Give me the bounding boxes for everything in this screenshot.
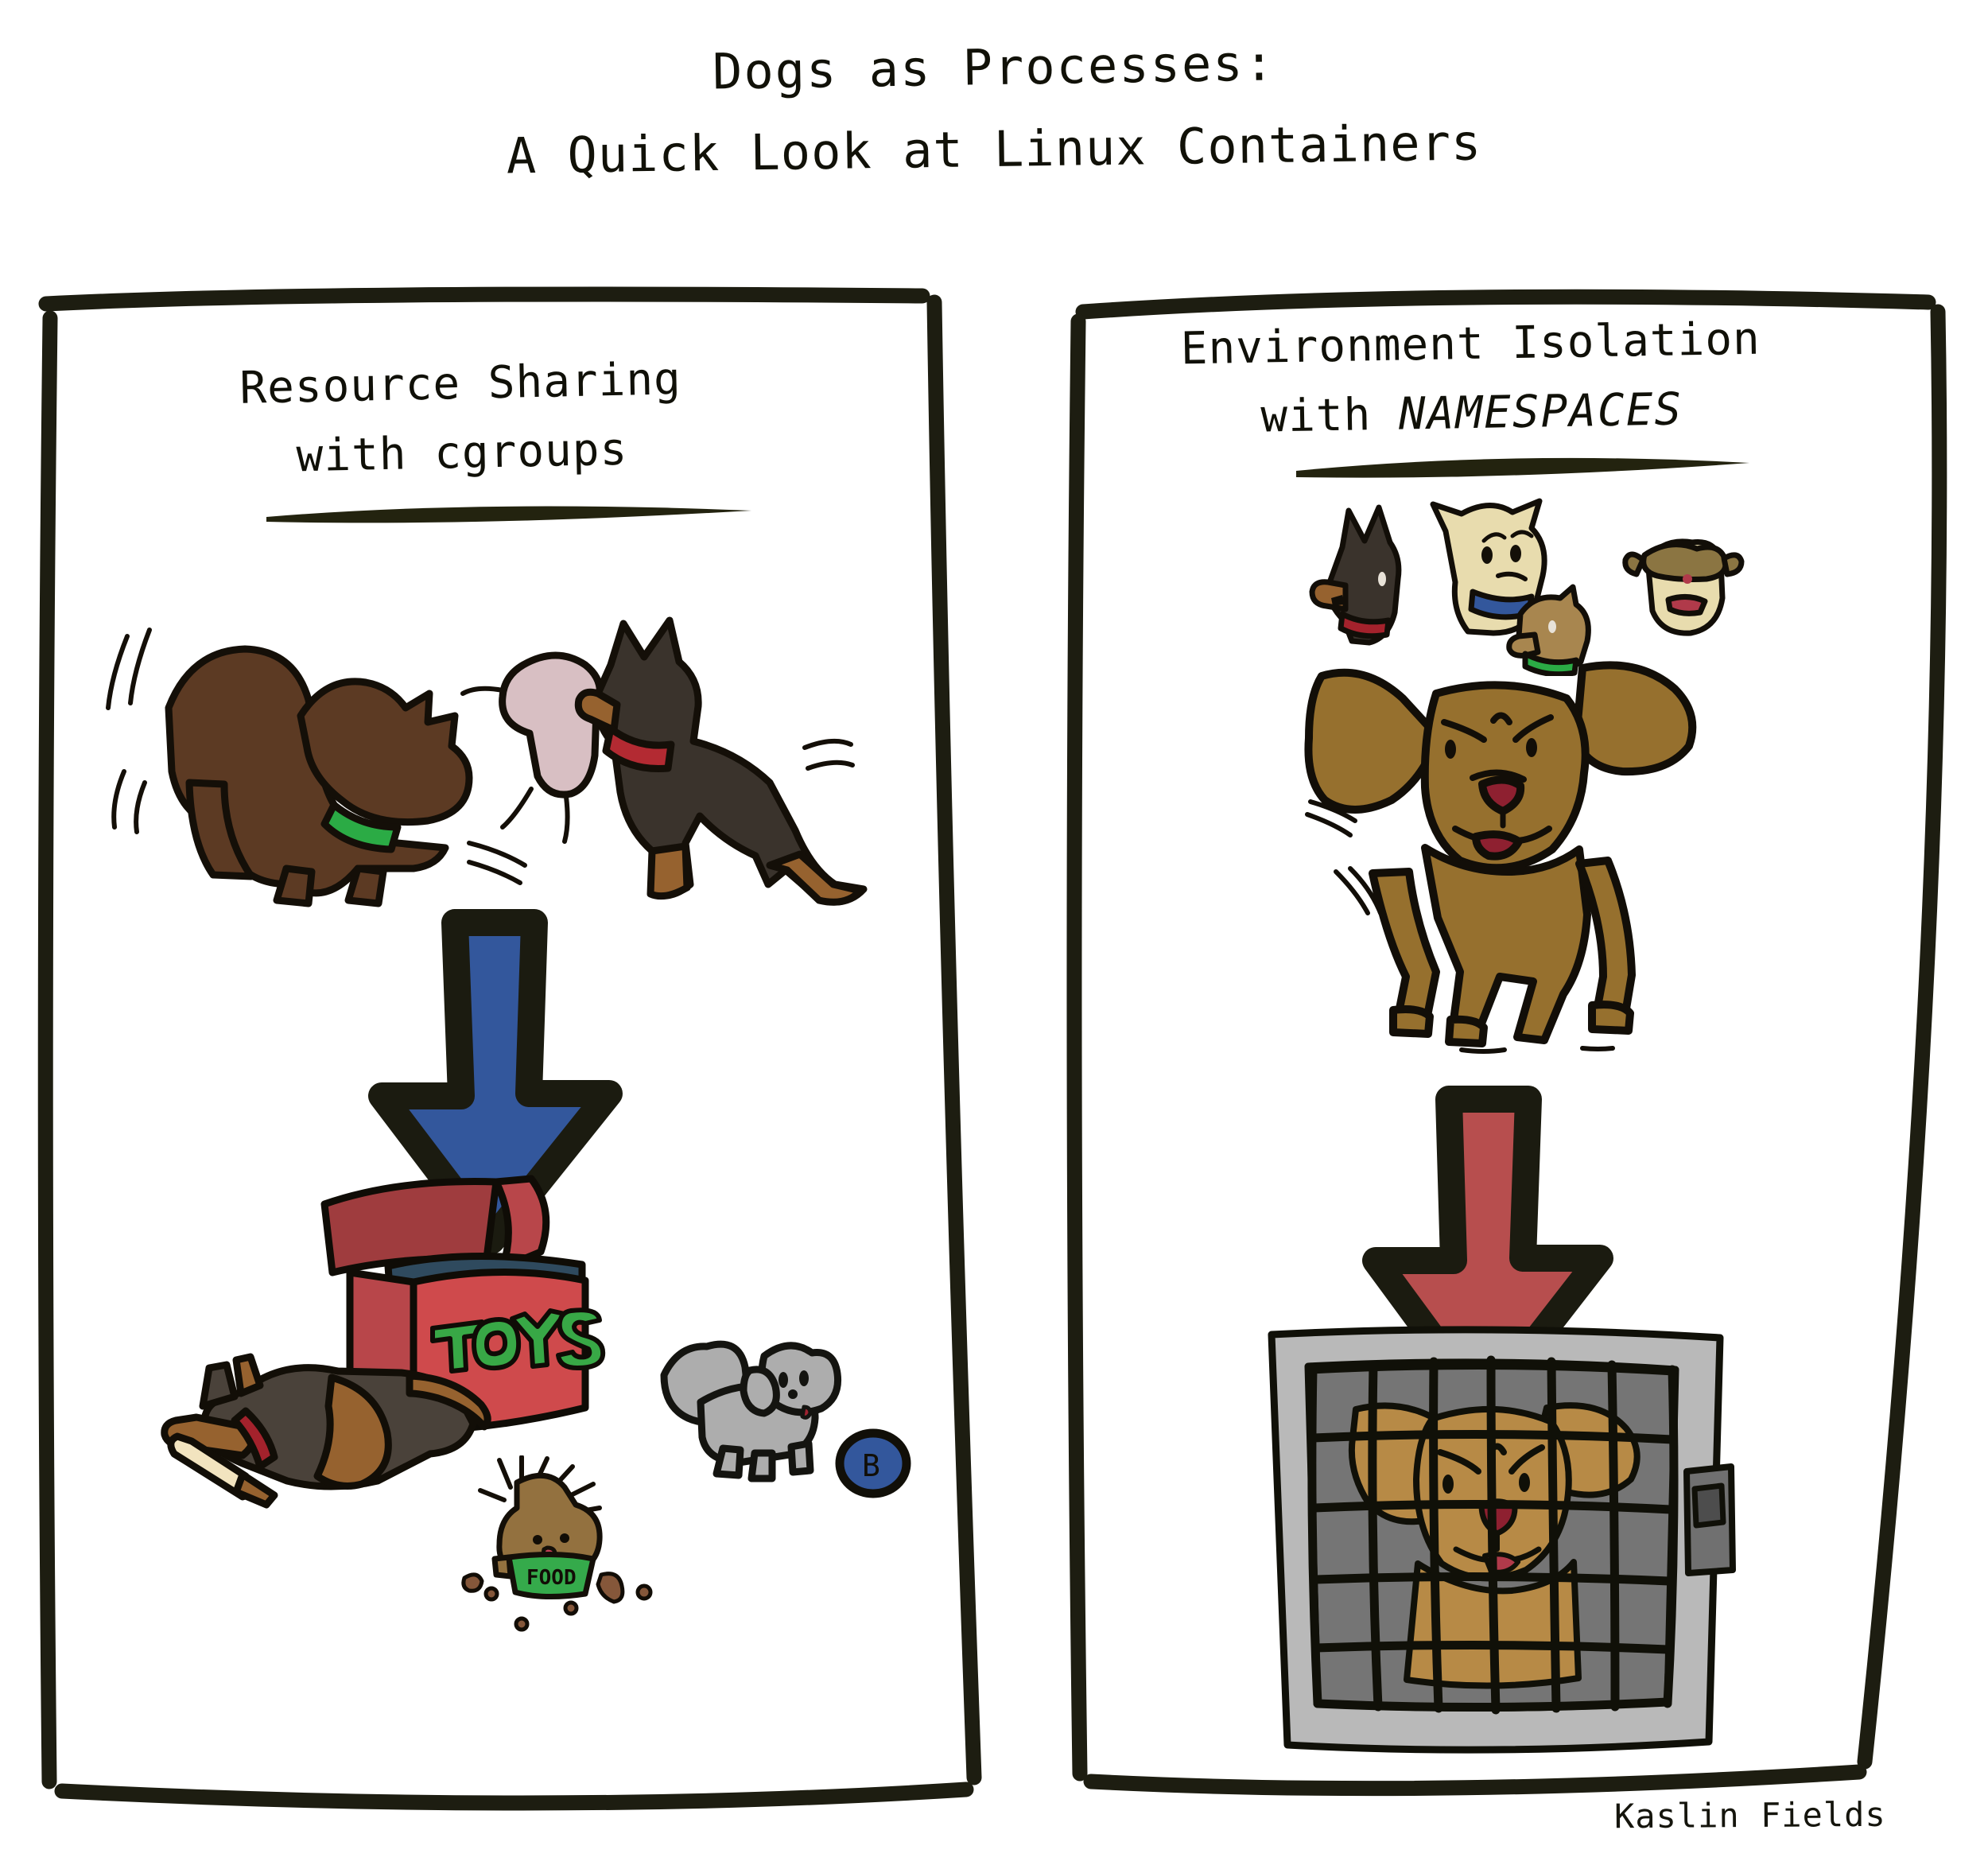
poodle-leg-2	[751, 1453, 772, 1478]
chocolate-lab-dog	[169, 649, 445, 893]
toy-box-lid-right	[496, 1179, 546, 1268]
pug-head	[1625, 542, 1741, 633]
doberman-muzzle	[578, 692, 617, 730]
dog-paw-fl	[1393, 1009, 1430, 1034]
dog-leg-fl	[1373, 872, 1436, 1028]
panel-right-right	[1865, 312, 1939, 1762]
doberman-collar	[606, 729, 671, 769]
toy-box-interior	[388, 1256, 582, 1288]
shaggy-dog-at-bowl: FOOD	[453, 1455, 676, 1646]
chocolate-lab-head	[301, 682, 469, 822]
dog-with-bone-body	[204, 1368, 473, 1486]
toy-box-lid-left	[324, 1182, 496, 1273]
dog-with-bone-haunch	[317, 1377, 388, 1486]
poodle-body	[701, 1385, 815, 1463]
panel-right-heading-line2: with NAMESPACES	[1105, 381, 1838, 445]
panel-right-left	[1074, 321, 1080, 1774]
panel-left-heading-line2: with cgroups	[111, 420, 812, 486]
panel-left-top	[46, 294, 922, 304]
poodle-leg-3	[791, 1444, 810, 1472]
blue-down-arrow-group	[382, 923, 609, 1241]
blue-ball: B	[827, 1422, 930, 1517]
red-down-arrow-group	[1376, 1099, 1600, 1408]
dog-with-bone-collar	[235, 1411, 274, 1467]
toy-box-label-O	[474, 1319, 518, 1368]
panel-right-heading-emphasis: NAMESPACES	[1398, 383, 1683, 440]
comic-stage: Dogs as Processes: A Quick Look at Linux…	[0, 0, 1988, 1869]
dog-tongue	[1476, 834, 1519, 857]
red-down-arrow-shape	[1376, 1099, 1600, 1408]
dog-with-bone-muzzle	[165, 1417, 254, 1455]
crate-bars	[1311, 1360, 1674, 1710]
dog-head	[1425, 685, 1586, 868]
dog-body	[1425, 848, 1587, 1040]
dog-with-bone-paw	[236, 1475, 274, 1505]
poodle-tail	[664, 1344, 746, 1422]
panel-right-heading-prefix: with	[1260, 389, 1400, 443]
panel-left-heading-line1: Resource Sharing	[111, 351, 811, 417]
kibble-6	[516, 1618, 527, 1630]
crated-dog-tongue	[1485, 1554, 1518, 1572]
heading-underline-left	[266, 507, 751, 523]
crated-dog-body	[1407, 1562, 1578, 1686]
dog-leg-br	[1579, 861, 1632, 1023]
kibble-4	[638, 1586, 650, 1599]
gray-poodle	[656, 1324, 863, 1515]
kibble-2	[598, 1574, 623, 1602]
shaggy-dog-tongue	[544, 1548, 556, 1559]
kibble-5	[565, 1603, 577, 1614]
toy-box-left-face	[350, 1273, 414, 1432]
poodle-leg-1	[716, 1448, 740, 1475]
blue-ball-shape	[840, 1433, 907, 1494]
dog-with-bone-tail	[410, 1376, 487, 1427]
crated-dog	[1352, 1405, 1637, 1685]
poodle-nose	[788, 1389, 798, 1399]
blue-down-arrow-shape	[382, 923, 609, 1241]
poodle-head	[762, 1346, 838, 1412]
dog-with-bone-ear-r	[236, 1357, 260, 1393]
artist-signature: Kaslin Fields	[1614, 1795, 1886, 1836]
crate-interior	[1308, 1362, 1675, 1708]
dog-paw-br	[1592, 1004, 1630, 1031]
panel-left-right	[934, 302, 974, 1778]
cream-dog-head	[1433, 501, 1544, 633]
poodle-eye-l	[779, 1372, 788, 1388]
dog-ear-left	[1308, 673, 1438, 810]
blue-ball-label: B	[862, 1448, 880, 1483]
toy-box-front-face	[414, 1272, 585, 1432]
poodle-ear	[744, 1370, 776, 1413]
shaggy-dog-eye-l	[533, 1535, 542, 1545]
toy-box	[302, 1169, 652, 1471]
dog-eye-right	[1526, 738, 1537, 757]
panel-heading-left: Resource Sharing with cgroups	[111, 351, 813, 486]
poodle-tongue	[802, 1407, 810, 1417]
dog-muzzle	[1473, 772, 1524, 779]
panel-left-left	[45, 318, 50, 1782]
comic-title-block: Dogs as Processes: A Quick Look at Linux…	[0, 38, 1988, 178]
doberman-dog	[597, 620, 864, 902]
toy-box-label-T	[433, 1322, 482, 1371]
dog-eye-left	[1445, 740, 1456, 759]
chocolate-lab-collar	[324, 805, 398, 849]
kibble-3	[486, 1588, 497, 1599]
crated-dog-nose	[1481, 1502, 1515, 1533]
dog-paw-bl	[1449, 1020, 1484, 1043]
panel-right-bottom	[1091, 1772, 1859, 1789]
bone-toy	[171, 1436, 258, 1497]
dog-with-bone-ear-l	[203, 1365, 235, 1406]
panel-right-top	[1083, 297, 1928, 312]
food-bowl-label: FOOD	[526, 1566, 577, 1590]
doberman-head	[1312, 507, 1399, 643]
food-bowl	[509, 1554, 593, 1596]
crate-scene	[1252, 1320, 1745, 1774]
dog-heads-row	[1296, 493, 1789, 676]
panel-left-bottom	[62, 1789, 966, 1803]
toy-box-label-Y	[512, 1311, 565, 1366]
comic-title-line-1: Dogs as Processes:	[712, 33, 1276, 100]
tan-puppy-head	[1509, 587, 1589, 674]
shaggy-dog-eye-r	[560, 1533, 569, 1543]
poodle-eye-r	[799, 1370, 809, 1386]
toy-box-label-S	[558, 1310, 603, 1368]
dog-with-bone	[147, 1344, 497, 1575]
heading-underline-right	[1296, 458, 1749, 478]
food-bowl-rim	[495, 1557, 511, 1576]
crate-latch	[1687, 1467, 1733, 1573]
kibble-1	[464, 1575, 482, 1591]
shaggy-dog-body	[499, 1475, 600, 1575]
pink-tug-toy	[503, 655, 600, 795]
dog-nose	[1482, 779, 1520, 811]
crated-dog-head	[1416, 1409, 1569, 1578]
panel-right-heading-line1: Environment Isolation	[1105, 312, 1837, 376]
tug-of-war-scene	[95, 589, 899, 923]
lone-angry-dog	[1304, 660, 1765, 1058]
dog-ear-right	[1576, 665, 1692, 771]
crate-frame	[1272, 1330, 1720, 1750]
panel-frames	[0, 0, 1988, 1869]
comic-title-line-2: A Quick Look at Linux Containers	[0, 107, 1988, 192]
panel-heading-right: Environment Isolation with NAMESPACES	[1105, 312, 1839, 445]
